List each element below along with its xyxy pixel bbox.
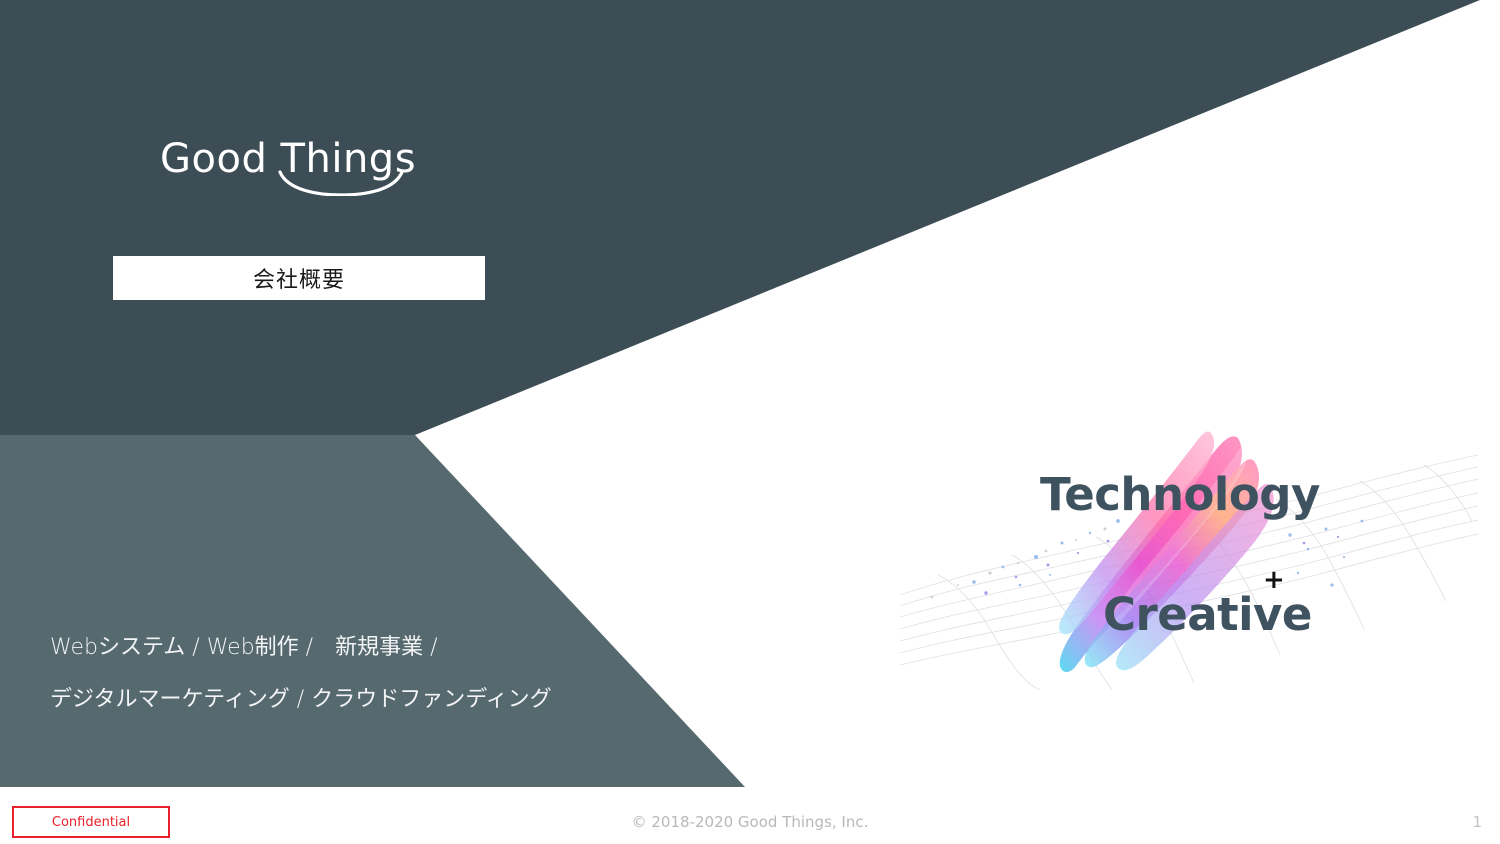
service-line-1: Webシステム / Web制作 / 新規事業 / bbox=[50, 622, 690, 674]
copyright-text: © 2018-2020 Good Things, Inc. bbox=[0, 813, 1500, 831]
logo-swoosh-icon bbox=[278, 170, 404, 196]
hero-text-block: Technology + Creative bbox=[900, 425, 1480, 690]
light-slate-shape bbox=[0, 435, 745, 787]
hero-graphic: Technology + Creative bbox=[900, 425, 1480, 690]
service-line-2: デジタルマーケティング / クラウドファンディング bbox=[50, 674, 690, 726]
slide-canvas: Good Things 会社概要 Webシステム / Web制作 / 新規事業 … bbox=[0, 0, 1500, 844]
hero-line-creative: Creative bbox=[1103, 588, 1312, 641]
hero-line-technology: Technology bbox=[1040, 468, 1320, 521]
slide-title-box: 会社概要 bbox=[113, 256, 485, 300]
page-title: 会社概要 bbox=[253, 262, 345, 294]
page-number: 1 bbox=[1472, 813, 1482, 831]
services-list: Webシステム / Web制作 / 新規事業 / デジタルマーケティング / ク… bbox=[50, 622, 690, 726]
company-logo: Good Things bbox=[160, 136, 420, 208]
dark-slate-shape bbox=[0, 0, 1480, 435]
